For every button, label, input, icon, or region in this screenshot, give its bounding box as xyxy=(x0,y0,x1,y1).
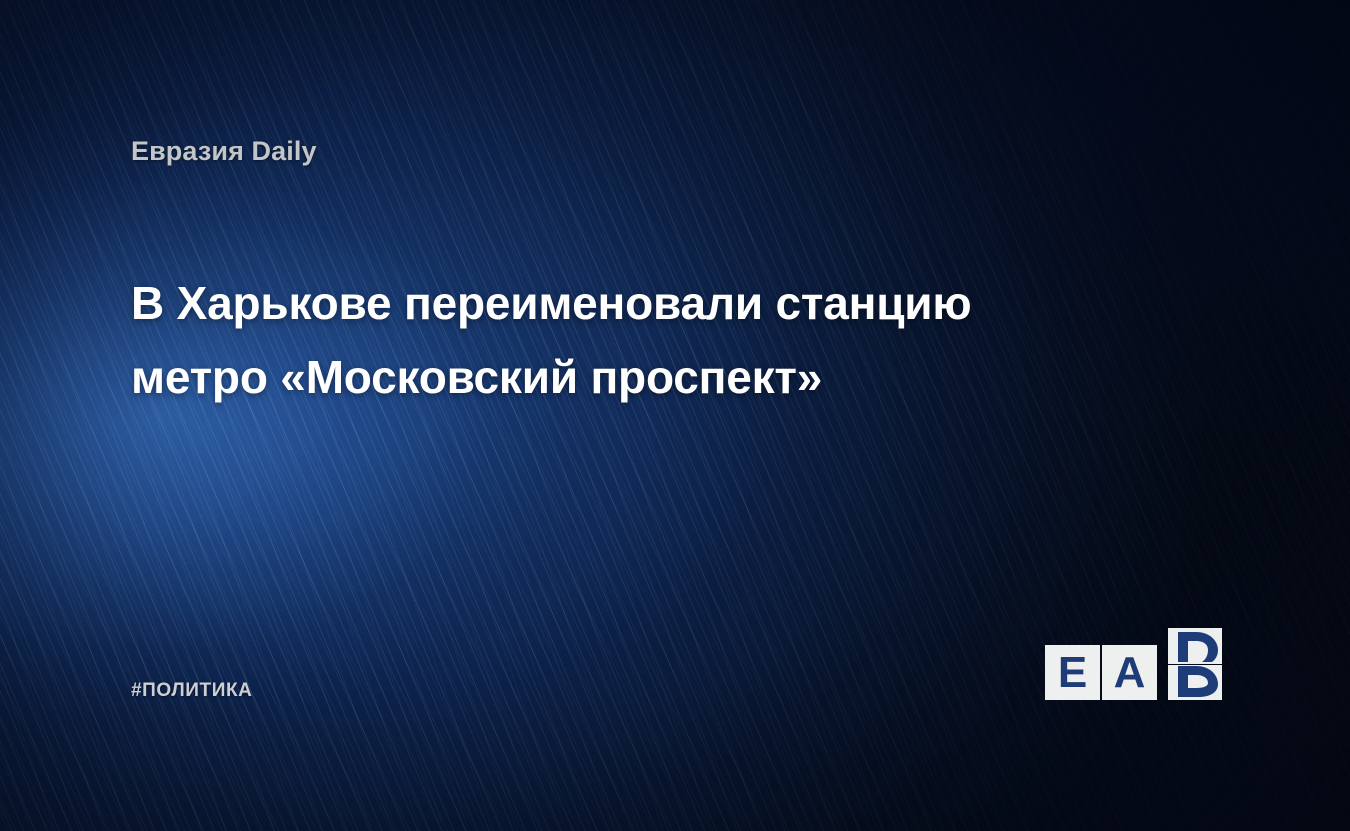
logo-letter-a: A xyxy=(1102,645,1157,700)
headline-line-1: В Харькове переименовали станцию xyxy=(131,266,1151,340)
logo-letter-e: E xyxy=(1045,645,1100,700)
brand-wordmark: Евразия Daily xyxy=(131,136,317,167)
category-hashtag[interactable]: #ПОЛИТИКА xyxy=(131,680,253,702)
card-content: Евразия Daily В Харькове переименовали с… xyxy=(0,0,1350,831)
headline-line-2: метро «Московский проспект» xyxy=(131,340,1151,414)
logo-letter-d-icon xyxy=(1168,628,1222,700)
page-title: В Харькове переименовали станцию метро «… xyxy=(131,266,1151,414)
eadaily-logo[interactable]: E A xyxy=(1045,628,1222,700)
news-card: Евразия Daily В Харькове переименовали с… xyxy=(0,0,1350,831)
